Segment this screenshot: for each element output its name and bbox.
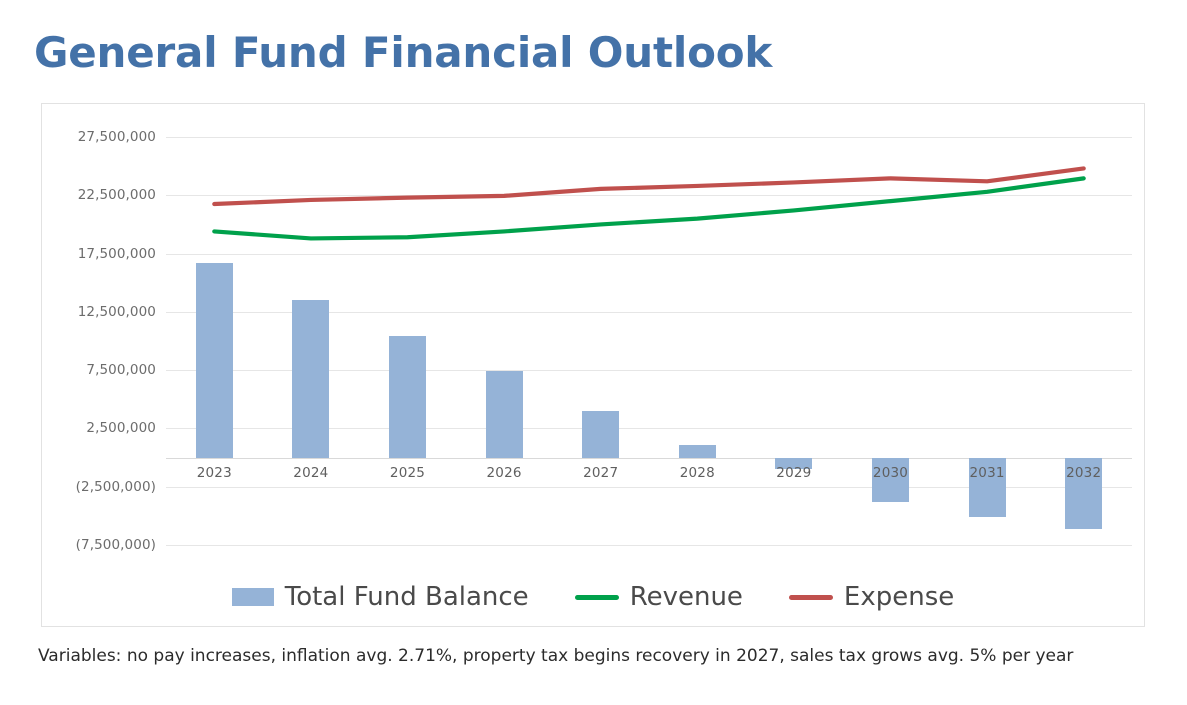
y-axis-tick-label: 2,500,000 <box>48 420 156 436</box>
x-axis-tick-label: 2029 <box>776 465 811 481</box>
line-series-expense[interactable] <box>214 168 1083 204</box>
gridline <box>166 137 1132 138</box>
y-axis-tick-label: 17,500,000 <box>48 246 156 262</box>
gridline <box>166 254 1132 255</box>
x-axis-tick-label: 2023 <box>197 465 232 481</box>
gridline <box>166 545 1132 546</box>
bar-total-fund-balance[interactable] <box>196 263 233 458</box>
x-axis-tick-label: 2024 <box>293 465 328 481</box>
y-axis-tick-label: (7,500,000) <box>48 537 156 553</box>
x-axis-tick-label: 2032 <box>1066 465 1101 481</box>
chart-caption: Variables: no pay increases, inflation a… <box>38 646 1073 666</box>
legend-label-total-fund-balance: Total Fund Balance <box>285 582 529 612</box>
bar-total-fund-balance[interactable] <box>679 445 716 457</box>
legend-swatch-line-revenue-icon <box>575 595 619 600</box>
x-axis-tick-label: 2031 <box>970 465 1005 481</box>
y-axis-tick-label: 12,500,000 <box>48 304 156 320</box>
y-axis-tick-label: 27,500,000 <box>48 129 156 145</box>
bar-total-fund-balance[interactable] <box>292 300 329 457</box>
x-axis-tick-label: 2027 <box>583 465 618 481</box>
y-axis-tick-label: 7,500,000 <box>48 362 156 378</box>
x-axis-tick-label: 2025 <box>390 465 425 481</box>
x-axis-tick-label: 2030 <box>873 465 908 481</box>
bar-total-fund-balance[interactable] <box>389 336 426 457</box>
page-title: General Fund Financial Outlook <box>34 28 772 77</box>
gridline <box>166 195 1132 196</box>
chart-legend: Total Fund Balance Revenue Expense <box>42 582 1144 612</box>
legend-item-expense[interactable]: Expense <box>789 582 954 612</box>
legend-swatch-line-expense-icon <box>789 595 833 600</box>
bar-total-fund-balance[interactable] <box>486 371 523 458</box>
x-axis-tick-label: 2028 <box>680 465 715 481</box>
legend-label-revenue: Revenue <box>630 582 743 612</box>
y-axis-tick-label: (2,500,000) <box>48 479 156 495</box>
legend-swatch-bar-icon <box>232 588 274 606</box>
legend-item-revenue[interactable]: Revenue <box>575 582 743 612</box>
line-series-revenue[interactable] <box>214 178 1083 238</box>
legend-label-expense: Expense <box>844 582 954 612</box>
chart-container: 27,500,00022,500,00017,500,00012,500,000… <box>41 103 1145 627</box>
bar-total-fund-balance[interactable] <box>582 411 619 458</box>
legend-item-total-fund-balance[interactable]: Total Fund Balance <box>232 582 529 612</box>
y-axis-tick-label: 22,500,000 <box>48 187 156 203</box>
chart-plot-area: 27,500,00022,500,00017,500,00012,500,000… <box>42 104 1144 626</box>
x-axis-tick-label: 2026 <box>487 465 522 481</box>
